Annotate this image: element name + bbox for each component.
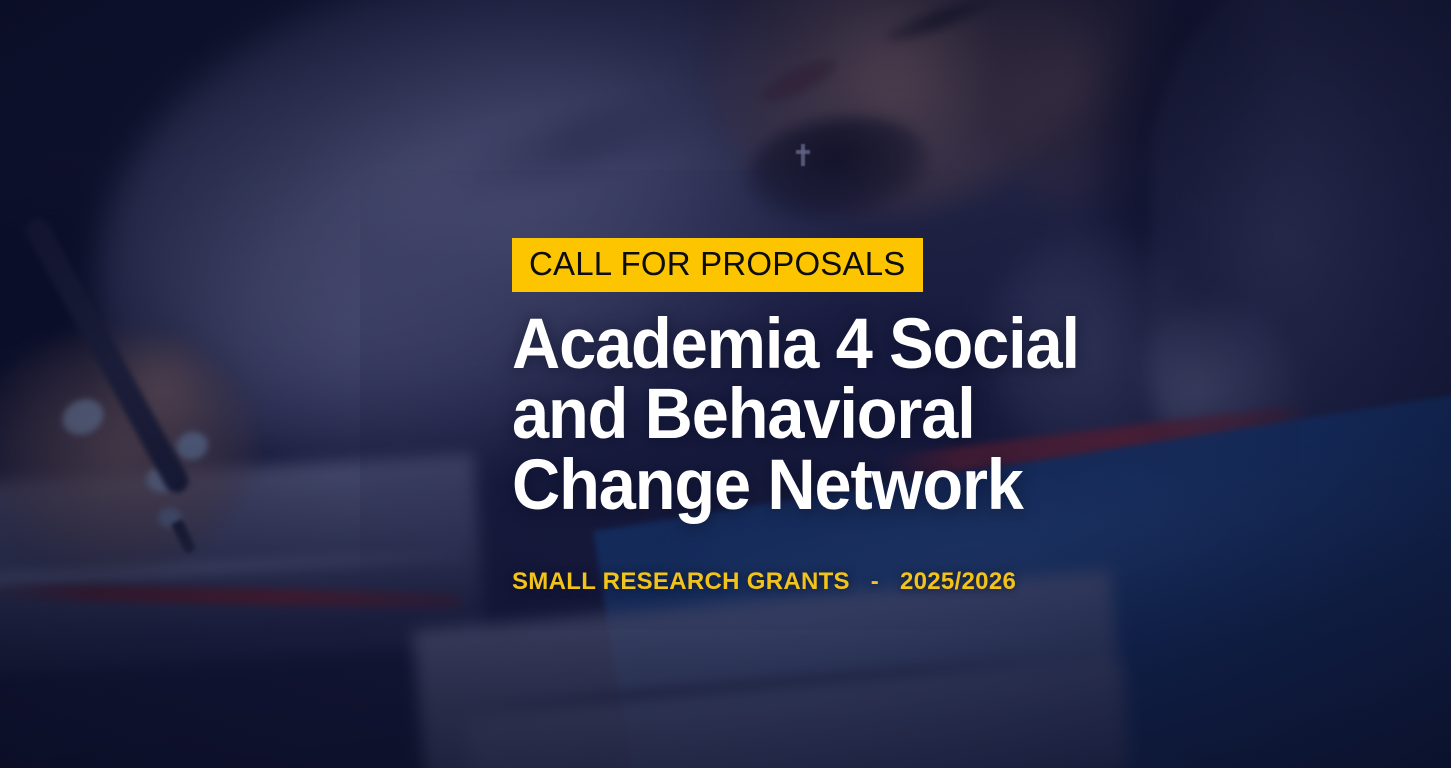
poster-text-block: CALL FOR PROPOSALS Academia 4 Social and…: [512, 238, 1292, 596]
headline-line-1: Academia 4 Social: [512, 310, 1245, 380]
page-title: Academia 4 Social and Behavioral Change …: [512, 310, 1245, 521]
headline-line-2: and Behavioral: [512, 380, 1245, 450]
call-for-proposals-badge: CALL FOR PROPOSALS: [512, 238, 923, 292]
grant-subtitle: SMALL RESEARCH GRANTS - 2025/2026: [512, 568, 1292, 596]
call-for-proposals-poster: CALL FOR PROPOSALS Academia 4 Social and…: [0, 0, 1451, 768]
headline-line-3: Change Network: [512, 451, 1245, 521]
